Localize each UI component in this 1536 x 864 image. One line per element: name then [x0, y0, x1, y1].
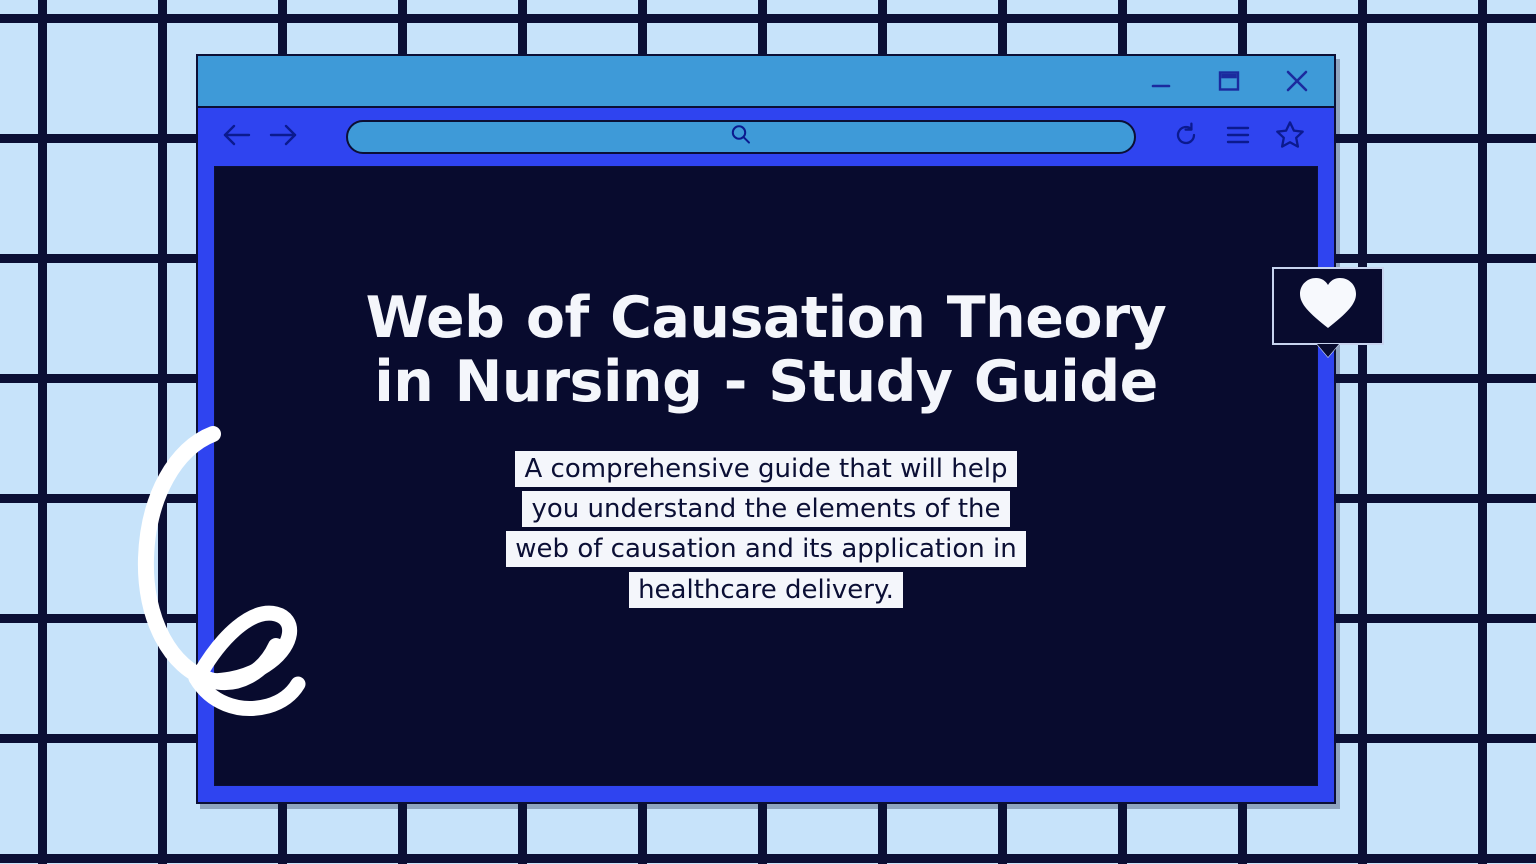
close-button[interactable]	[1282, 66, 1312, 96]
hamburger-menu-icon	[1223, 122, 1253, 153]
reload-button[interactable]	[1160, 116, 1212, 158]
subtitle-line: A comprehensive guide that will help	[515, 451, 1016, 487]
maximize-icon	[1215, 67, 1243, 95]
minimize-button[interactable]	[1146, 66, 1176, 96]
arrow-left-icon	[219, 121, 255, 154]
heart-badge[interactable]	[1272, 267, 1384, 355]
browser-window: Web of Causation Theory in Nursing - Stu…	[196, 54, 1336, 804]
address-bar[interactable]	[346, 120, 1136, 154]
minimize-icon	[1148, 68, 1174, 94]
search-icon	[728, 122, 754, 153]
subtitle-line: healthcare delivery.	[629, 572, 903, 608]
maximize-button[interactable]	[1214, 66, 1244, 96]
browser-title-bar	[198, 56, 1334, 108]
subtitle-line: web of causation and its application in	[506, 531, 1025, 567]
heart-bubble-tail	[1317, 344, 1339, 357]
heart-bubble	[1272, 267, 1384, 345]
forward-button[interactable]	[260, 117, 306, 157]
close-icon	[1282, 66, 1312, 96]
heart-icon	[1297, 276, 1359, 337]
page-subtitle: A comprehensive guide that will help you…	[486, 449, 1046, 610]
star-icon	[1274, 119, 1306, 156]
reload-icon	[1171, 120, 1201, 155]
bookmark-button[interactable]	[1264, 116, 1316, 158]
slide-canvas: Web of Causation Theory in Nursing - Stu…	[0, 0, 1536, 864]
page-title: Web of Causation Theory in Nursing - Stu…	[326, 287, 1206, 415]
menu-button[interactable]	[1212, 116, 1264, 158]
page-content-area: Web of Causation Theory in Nursing - Stu…	[214, 166, 1318, 786]
back-button[interactable]	[214, 117, 260, 157]
subtitle-line: you understand the elements of the	[522, 491, 1009, 527]
arrow-right-icon	[265, 121, 301, 154]
browser-toolbar	[198, 108, 1334, 166]
